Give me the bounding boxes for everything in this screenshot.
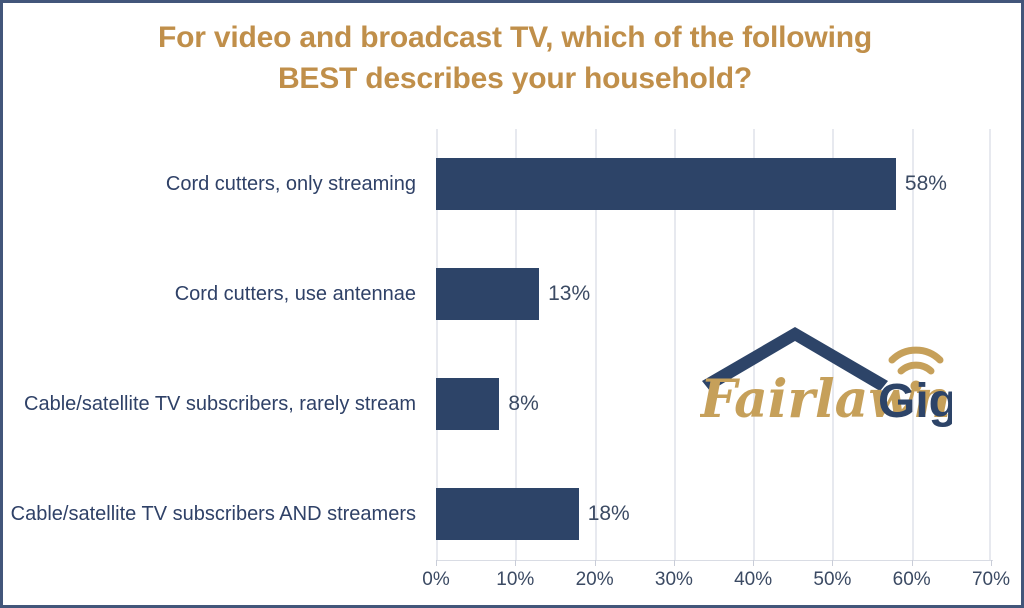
x-tick-10 — [515, 560, 516, 566]
x-axis-labels: 0% 10% 20% 30% 40% 50% 60% 70% — [436, 569, 991, 599]
x-tick-0 — [436, 560, 437, 566]
x-tick-label-20: 20% — [576, 569, 614, 591]
chart-title: For video and broadcast TV, which of the… — [93, 17, 937, 100]
x-tick-label-60: 60% — [893, 569, 931, 591]
x-tick-label-50: 50% — [813, 569, 851, 591]
bar-value-1: 13% — [539, 282, 590, 306]
svg-text:Gig: Gig — [878, 375, 952, 427]
x-tick-20 — [595, 560, 596, 566]
x-tick-30 — [674, 560, 675, 566]
x-tick-label-0: 0% — [422, 569, 449, 591]
chart-slide: For video and broadcast TV, which of the… — [0, 0, 1024, 608]
x-tick-70 — [991, 560, 992, 566]
fairlawngig-logo: Fairlawn Gig — [700, 319, 952, 427]
bar-0[interactable] — [436, 158, 896, 210]
x-tick-50 — [832, 560, 833, 566]
category-label-2: Cable/satellite TV subscribers, rarely s… — [24, 378, 416, 430]
x-tick-label-10: 10% — [496, 569, 534, 591]
bar-1[interactable] — [436, 268, 539, 320]
category-label-0: Cord cutters, only streaming — [166, 158, 416, 210]
bar-3[interactable] — [436, 488, 579, 540]
category-label-3: Cable/satellite TV subscribers AND strea… — [11, 488, 416, 540]
category-label-1: Cord cutters, use antennae — [175, 268, 416, 320]
x-tick-40 — [753, 560, 754, 566]
bar-value-0: 58% — [896, 172, 947, 196]
x-tick-label-40: 40% — [734, 569, 772, 591]
x-axis-line — [436, 560, 993, 561]
x-tick-60 — [912, 560, 913, 566]
category-axis: Cord cutters, only streaming Cord cutter… — [3, 129, 426, 560]
bar-value-3: 18% — [579, 502, 630, 526]
gig-wordmark: Gig — [878, 375, 952, 427]
bar-value-2: 8% — [499, 392, 538, 416]
chart-title-line-2: BEST describes your household? — [93, 58, 937, 99]
bar-2[interactable] — [436, 378, 499, 430]
x-tick-label-70: 70% — [972, 569, 1010, 591]
chart-title-line-1: For video and broadcast TV, which of the… — [93, 17, 937, 58]
gridline-70 — [989, 129, 991, 560]
x-tick-label-30: 30% — [655, 569, 693, 591]
